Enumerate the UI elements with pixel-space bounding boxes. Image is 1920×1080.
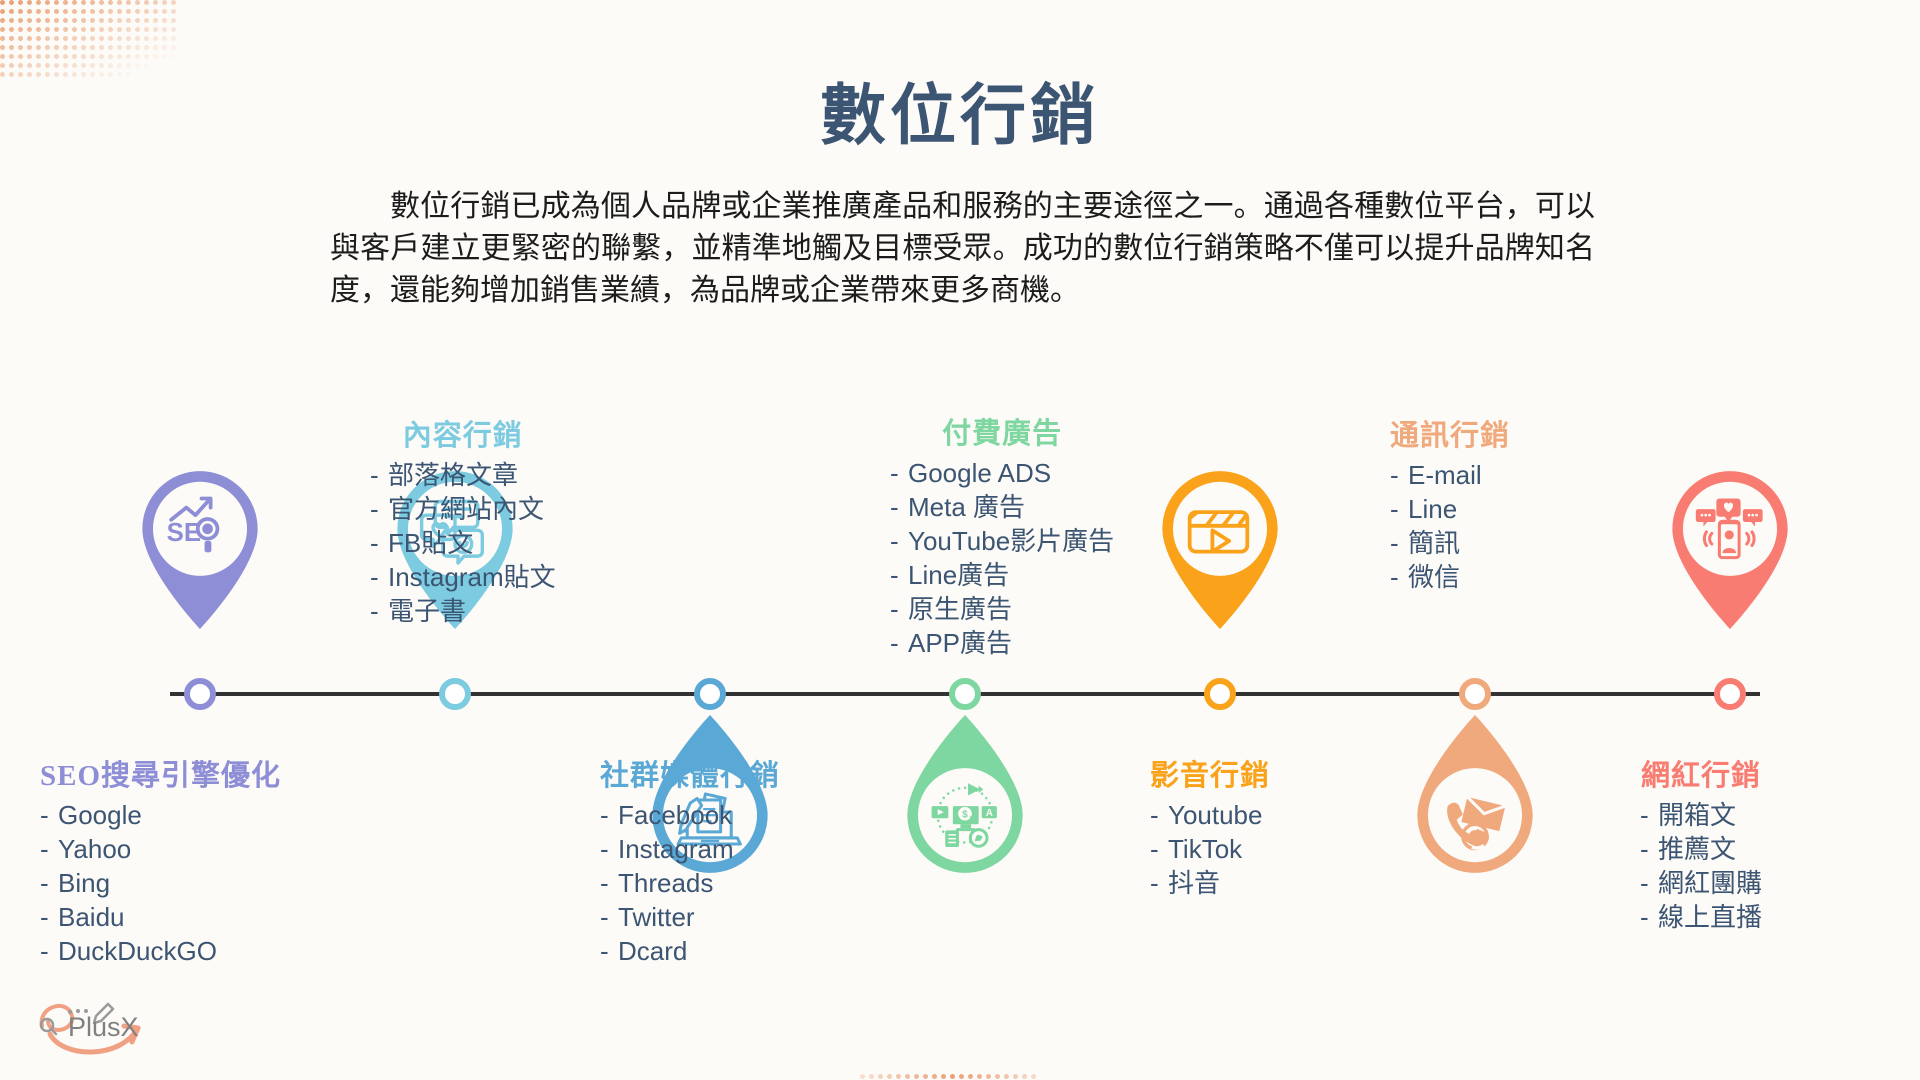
decorative-dot [153, 45, 158, 50]
section-list-influencer: 開箱文推薦文網紅團購線上直播 [1640, 798, 1762, 934]
decorative-dot [0, 45, 5, 50]
decorative-dot [995, 1074, 1000, 1079]
list-item: 部落格文章 [370, 458, 556, 492]
section-social: 社群媒體行銷FacebookInstagramThreadsTwitterDca… [600, 752, 780, 968]
decorative-dot [117, 0, 122, 5]
decorative-dot [54, 54, 59, 59]
list-item: APP廣告 [890, 626, 1114, 660]
decorative-dot [153, 9, 158, 14]
decorative-dot [90, 36, 95, 41]
decorative-dot [144, 27, 149, 32]
decorative-dot [923, 1074, 928, 1079]
decorative-dot [36, 18, 41, 23]
section-heading-content: 內容行銷 [370, 412, 556, 454]
decorative-dot [90, 9, 95, 14]
decorative-dot [36, 54, 41, 59]
svg-text:$: $ [962, 809, 968, 820]
decorative-dot [135, 45, 140, 50]
ads-network-icon: $ A [889, 712, 1041, 888]
decorative-dot [108, 9, 113, 14]
decorative-dot [162, 9, 167, 14]
decorative-dot [117, 9, 122, 14]
section-content: 內容行銷部落格文章官方網站內文FB貼文Instagram貼文電子書 [370, 412, 556, 628]
decorative-dot [99, 36, 104, 41]
decorative-dot [950, 1074, 955, 1079]
decorative-dot [1004, 1074, 1009, 1079]
decorative-dot [171, 18, 176, 23]
svg-text:SE: SE [167, 519, 201, 547]
decorative-dot [9, 54, 14, 59]
decorative-dot [126, 45, 131, 50]
decorative-dot [45, 0, 50, 5]
decorative-dot [878, 1074, 883, 1079]
decorative-dot [27, 36, 32, 41]
decorative-dot [162, 27, 167, 32]
decorative-dot [171, 27, 176, 32]
section-heading-paidads: 付費廣告 [890, 410, 1114, 452]
pin-influencer[interactable] [1654, 456, 1806, 632]
decorative-dot [9, 9, 14, 14]
decorative-dot [162, 0, 167, 5]
list-item: Facebook [600, 798, 780, 832]
decorative-dot [90, 18, 95, 23]
section-heading-seo: SEO搜尋引擎優化 [40, 752, 281, 794]
decorative-dot [869, 1074, 874, 1079]
logo-text: PlusX [68, 1012, 139, 1042]
decorative-dot [932, 1074, 937, 1079]
list-item: Instagram貼文 [370, 560, 556, 594]
decorative-dot [135, 36, 140, 41]
decorative-dot [171, 54, 176, 59]
decorative-dot [54, 0, 59, 5]
section-paidads: 付費廣告Google ADSMeta 廣告YouTube影片廣告Line廣告原生… [890, 410, 1114, 660]
section-seo: SEO搜尋引擎優化GoogleYahooBingBaiduDuckDuckGO [40, 752, 281, 968]
section-heading-messaging: 通訊行銷 [1390, 412, 1510, 454]
pin-video[interactable] [1144, 456, 1296, 632]
decorative-dot [0, 0, 5, 5]
list-item: Line廣告 [890, 558, 1114, 592]
timeline-node-content[interactable] [439, 678, 471, 710]
decorative-dot [72, 18, 77, 23]
phone-social-heart-icon [1654, 456, 1806, 632]
list-item: YouTube影片廣告 [890, 524, 1114, 558]
list-item: Meta 廣告 [890, 490, 1114, 524]
decorative-dot [45, 18, 50, 23]
list-item: Yahoo [40, 832, 281, 866]
decorative-dot [45, 27, 50, 32]
decorative-dot [171, 0, 176, 5]
decorative-dot [117, 27, 122, 32]
decorative-dot [126, 18, 131, 23]
decorative-dot [99, 0, 104, 5]
decorative-dot [81, 54, 86, 59]
svg-text:A: A [986, 808, 993, 819]
decorative-dot [72, 0, 77, 5]
decorative-dot [108, 45, 113, 50]
list-item: Google ADS [890, 456, 1114, 490]
decorative-dot [153, 54, 158, 59]
decorative-dot [63, 27, 68, 32]
decorative-dot [905, 1074, 910, 1079]
list-item: 線上直播 [1640, 900, 1762, 934]
section-list-video: YoutubeTikTok抖音 [1150, 798, 1270, 900]
decorative-dot [27, 45, 32, 50]
decorative-dot [9, 0, 14, 5]
decorative-dot [108, 18, 113, 23]
decorative-dot [63, 18, 68, 23]
list-item: 微信 [1390, 560, 1510, 594]
decorative-dot [135, 18, 140, 23]
decorative-dot [9, 27, 14, 32]
decorative-dot [63, 0, 68, 5]
list-item: Instagram [600, 832, 780, 866]
decorative-dot [144, 36, 149, 41]
decorative-dot [27, 9, 32, 14]
decorative-dot [27, 27, 32, 32]
decorative-dot [0, 18, 5, 23]
decorative-dot [117, 45, 122, 50]
decorative-dot [81, 18, 86, 23]
decorative-dot [27, 18, 32, 23]
timeline-node-social[interactable] [694, 678, 726, 710]
decorative-dot [153, 36, 158, 41]
decorative-dot [0, 9, 5, 14]
section-influencer: 網紅行銷開箱文推薦文網紅團購線上直播 [1640, 752, 1762, 934]
decorative-dot [968, 1074, 973, 1079]
decorative-dot [45, 54, 50, 59]
decorative-dot [887, 1074, 892, 1079]
decorative-dot [126, 54, 131, 59]
decorative-dot [144, 18, 149, 23]
decorative-dot [90, 54, 95, 59]
decorative-dot [54, 36, 59, 41]
list-item: Dcard [600, 934, 780, 968]
pin-messaging[interactable] [1399, 712, 1551, 888]
list-item: 原生廣告 [890, 592, 1114, 626]
decorative-dot [45, 45, 50, 50]
decorative-dot [72, 45, 77, 50]
list-item: E-mail [1390, 458, 1510, 492]
decorative-dot [171, 45, 176, 50]
decorative-dot [72, 9, 77, 14]
list-item: Baidu [40, 900, 281, 934]
phone-envelope-at-icon [1399, 712, 1551, 888]
decorative-dot [1031, 1074, 1036, 1079]
decorative-dot [153, 18, 158, 23]
decorative-dot [72, 36, 77, 41]
decorative-dot [54, 18, 59, 23]
decorative-dot [1013, 1074, 1018, 1079]
decorative-dot [126, 9, 131, 14]
seo-growth-icon: SE [124, 456, 276, 632]
decorative-dot [81, 45, 86, 50]
decorative-dot [81, 0, 86, 5]
clapperboard-play-icon [1144, 456, 1296, 632]
decorative-dot [99, 54, 104, 59]
timeline-node-paidads[interactable] [949, 678, 981, 710]
decorative-dot [896, 1074, 901, 1079]
decorative-dot [18, 27, 23, 32]
decorative-dot [36, 9, 41, 14]
list-item: 電子書 [370, 594, 556, 628]
decorative-dot [90, 45, 95, 50]
section-list-social: FacebookInstagramThreadsTwitterDcard [600, 798, 780, 968]
decorative-dot [117, 18, 122, 23]
decorative-dot [171, 9, 176, 14]
decorative-dot [162, 54, 167, 59]
decorative-dot [18, 54, 23, 59]
decorative-dot [108, 27, 113, 32]
decorative-dot [81, 27, 86, 32]
decorative-dot [162, 36, 167, 41]
decorative-dot [171, 36, 176, 41]
decorative-dot [45, 36, 50, 41]
decorative-dot [162, 18, 167, 23]
decorative-dot [81, 9, 86, 14]
decorative-dot [63, 9, 68, 14]
decorative-dot [18, 18, 23, 23]
decorative-dot [54, 27, 59, 32]
decorative-dot [0, 54, 5, 59]
decorative-dot [27, 54, 32, 59]
decorative-dot [99, 18, 104, 23]
section-list-content: 部落格文章官方網站內文FB貼文Instagram貼文電子書 [370, 458, 556, 628]
list-item: 網紅團購 [1640, 866, 1762, 900]
list-item: 推薦文 [1640, 832, 1762, 866]
decorative-dot [153, 0, 158, 5]
decorative-dot [135, 0, 140, 5]
list-item: Google [40, 798, 281, 832]
timeline-node-seo[interactable] [184, 678, 216, 710]
decorative-dot [135, 54, 140, 59]
decorative-dot [144, 54, 149, 59]
decorative-dot [36, 36, 41, 41]
decorative-dot [27, 0, 32, 5]
list-item: Bing [40, 866, 281, 900]
decorative-dot [117, 54, 122, 59]
section-list-messaging: E-mailLine簡訊微信 [1390, 458, 1510, 594]
list-item: 官方網站內文 [370, 492, 556, 526]
section-list-seo: GoogleYahooBingBaiduDuckDuckGO [40, 798, 281, 968]
decorative-dot [135, 27, 140, 32]
decorative-dot [914, 1074, 919, 1079]
list-item: FB貼文 [370, 526, 556, 560]
decorative-dot [860, 1074, 865, 1079]
decorative-dot [0, 27, 5, 32]
section-messaging: 通訊行銷E-mailLine簡訊微信 [1390, 412, 1510, 594]
list-item: Twitter [600, 900, 780, 934]
decorative-dot [45, 9, 50, 14]
list-item: 簡訊 [1390, 526, 1510, 560]
list-item: Youtube [1150, 798, 1270, 832]
decorative-dot [18, 9, 23, 14]
decorative-dot [72, 54, 77, 59]
timeline-node-messaging[interactable] [1459, 678, 1491, 710]
timeline-node-video[interactable] [1204, 678, 1236, 710]
decorative-dot [135, 9, 140, 14]
list-item: TikTok [1150, 832, 1270, 866]
decorative-dot [9, 45, 14, 50]
page-title: 數位行銷 [0, 62, 1920, 158]
decorative-dot [144, 9, 149, 14]
decorative-dot [90, 27, 95, 32]
decorative-dot [9, 18, 14, 23]
decorative-dot [99, 27, 104, 32]
decorative-dot [108, 0, 113, 5]
decorative-dot [144, 45, 149, 50]
decorative-dot [986, 1074, 991, 1079]
decorative-dot [977, 1074, 982, 1079]
section-heading-video: 影音行銷 [1150, 752, 1270, 794]
decorative-dot [941, 1074, 946, 1079]
list-item: 開箱文 [1640, 798, 1762, 832]
plusx-logo: PlusX [20, 988, 180, 1068]
decorative-dot [99, 9, 104, 14]
decorative-dot [36, 45, 41, 50]
decorative-dot [0, 36, 5, 41]
pin-paidads[interactable]: $ A [889, 712, 1041, 888]
section-video: 影音行銷YoutubeTikTok抖音 [1150, 752, 1270, 900]
decorative-dot [18, 0, 23, 5]
section-list-paidads: Google ADSMeta 廣告YouTube影片廣告Line廣告原生廣告AP… [890, 456, 1114, 660]
decorative-dot [108, 54, 113, 59]
decorative-dot [126, 36, 131, 41]
decorative-dot [99, 45, 104, 50]
decorative-dot [54, 9, 59, 14]
decorative-dot [153, 27, 158, 32]
pin-seo[interactable]: SE [124, 456, 276, 632]
decorative-dot [36, 0, 41, 5]
section-heading-social: 社群媒體行銷 [600, 752, 780, 794]
decorative-dot [126, 0, 131, 5]
decorative-dot [18, 36, 23, 41]
list-item: Line [1390, 492, 1510, 526]
decorative-dot [108, 36, 113, 41]
decorative-dot [54, 45, 59, 50]
decorative-dot [959, 1074, 964, 1079]
list-item: Threads [600, 866, 780, 900]
decorative-dot [63, 45, 68, 50]
decorative-dot [72, 27, 77, 32]
decorative-dot [144, 0, 149, 5]
section-heading-influencer: 網紅行銷 [1640, 752, 1762, 794]
decorative-dot [9, 36, 14, 41]
decorative-dot [1022, 1074, 1027, 1079]
infographic-canvas: 數位行銷 數位行銷已成為個人品牌或企業推廣產品和服務的主要途徑之一。通過各種數位… [0, 0, 1920, 1080]
decorative-dot [18, 45, 23, 50]
decorative-dot [90, 0, 95, 5]
intro-paragraph: 數位行銷已成為個人品牌或企業推廣產品和服務的主要途徑之一。通過各種數位平台，可以… [330, 186, 1595, 312]
timeline-node-influencer[interactable] [1714, 678, 1746, 710]
list-item: 抖音 [1150, 866, 1270, 900]
decorative-dot [63, 36, 68, 41]
decorative-dot [162, 45, 167, 50]
decorative-dot [36, 27, 41, 32]
decorative-dot [117, 36, 122, 41]
decorative-dot [81, 36, 86, 41]
list-item: DuckDuckGO [40, 934, 281, 968]
decorative-dot [63, 54, 68, 59]
decorative-dot [126, 27, 131, 32]
